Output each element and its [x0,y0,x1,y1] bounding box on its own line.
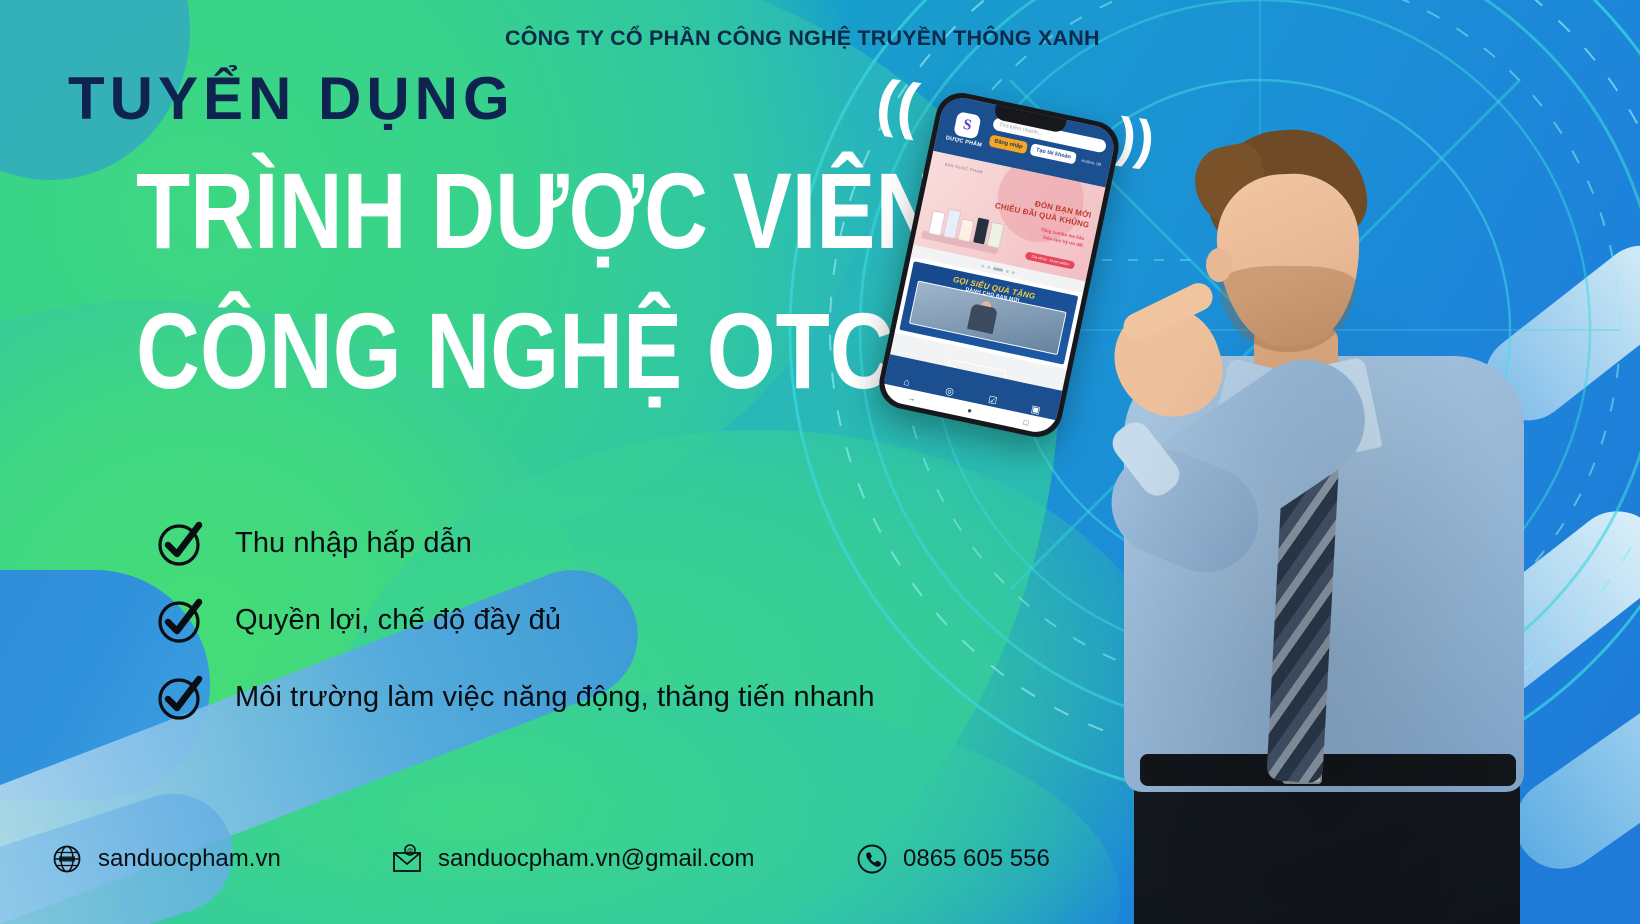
benefits-list: Thu nhập hấp dẫn Quyền lợi, chế độ đầy đ… [155,505,1055,735]
phone-icon [855,842,889,876]
contact-phone[interactable]: 0865 605 556 [855,836,1050,882]
carousel-dot[interactable] [1006,269,1010,273]
banner2-photo-body [967,303,998,334]
home-icon[interactable]: ● [966,405,973,415]
app-logo-mark: S [953,111,981,139]
svg-text:@: @ [407,848,413,854]
email-label: sanduocpham.vn@gmail.com [438,845,755,873]
app-logo: S DƯỢC PHẨM [944,109,990,149]
list-item-label: Quyền lợi, chế độ đầy đủ [235,604,561,637]
website-label: sanduocpham.vn [98,845,281,873]
contact-email[interactable]: @ sanduocpham.vn@gmail.com [390,836,755,882]
list-item: Quyền lợi, chế độ đầy đủ [155,582,1055,658]
carousel-dot[interactable] [1012,270,1016,274]
list-item-label: Thu nhập hấp dẫn [235,527,472,560]
model-photo [1068,128,1548,924]
carousel-dot[interactable] [987,265,991,269]
headline-line-1: TRÌNH DƯỢC VIÊN [136,160,939,263]
login-button[interactable]: Đăng nhập [988,134,1028,154]
headline-line-2: CÔNG NGHỆ OTC [136,300,894,403]
back-icon[interactable]: → [907,393,917,403]
list-item: Môi trường làm việc năng động, thăng tiế… [155,659,1055,735]
phone-label: 0865 605 556 [903,845,1050,873]
globe-icon [50,842,84,876]
footer-contacts: sanduocpham.vn @ sanduocpham.vn@gmail.co… [0,836,1100,882]
eyebrow-title: TUYỂN DỤNG [68,64,515,133]
recruitment-banner: CÔNG TY CỔ PHẦN CÔNG NGHỆ TRUYỀN THÔNG X… [0,0,1640,924]
check-circle-icon [155,517,207,569]
list-item-label: Môi trường làm việc năng động, thăng tiế… [235,681,875,714]
model-ear [1206,248,1232,282]
contact-website[interactable]: sanduocpham.vn [50,836,281,882]
carousel-dot-active[interactable] [993,266,1003,271]
list-item: Thu nhập hấp dẫn [155,505,1055,581]
envelope-icon: @ [390,842,424,876]
carousel-dot[interactable] [981,264,985,268]
banner-brand-label: SAN DUOC PHAM [944,162,983,175]
company-name: CÔNG TY CỔ PHẦN CÔNG NGHỆ TRUYỀN THÔNG X… [505,26,1100,51]
product-box [987,222,1005,249]
quote-open-icon: (( [873,71,923,138]
check-circle-icon [155,671,207,723]
model-belt [1140,754,1516,786]
recents-icon[interactable]: □ [1023,417,1030,427]
check-circle-icon [155,594,207,646]
